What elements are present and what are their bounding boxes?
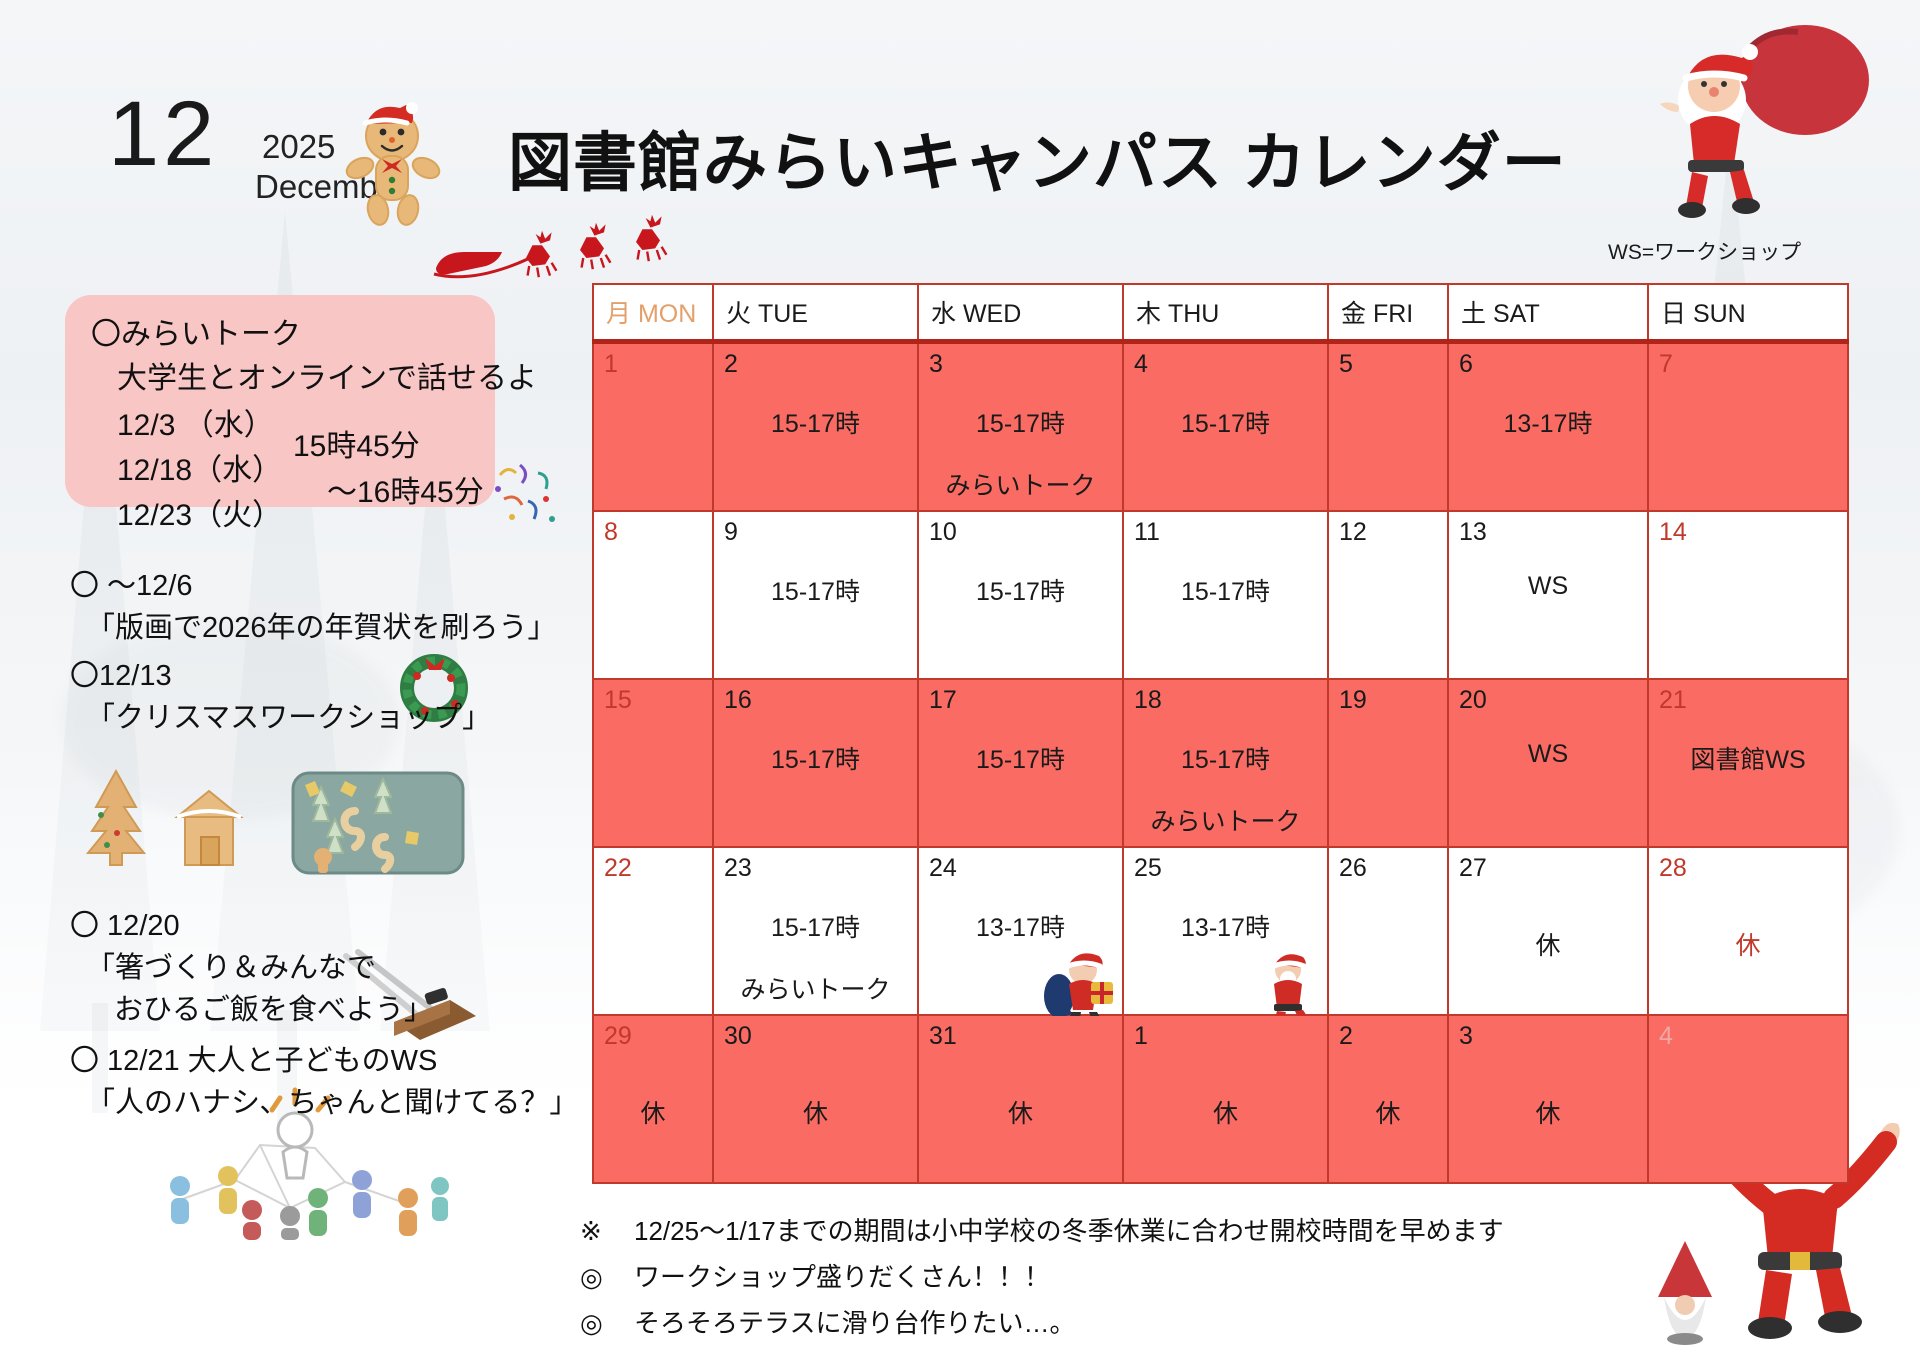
day-number: 9 xyxy=(724,518,738,546)
calendar-day-cell[interactable]: 20WS xyxy=(1448,679,1648,847)
day-number: 25 xyxy=(1134,854,1162,882)
calendar-day-cell[interactable]: 27休 xyxy=(1448,847,1648,1015)
day-event-1: 15-17時 xyxy=(1124,404,1327,440)
calendar-day-cell[interactable]: 26 xyxy=(1328,847,1448,1015)
mirai-talk-title: 〇みらいトーク xyxy=(91,309,301,353)
page-title: 図書館みらいキャンパス カレンダー xyxy=(508,112,1567,204)
calendar-day-cell[interactable]: 415-17時 xyxy=(1123,342,1328,512)
calendar-day-cell[interactable]: 1 xyxy=(593,342,713,512)
page-header: 12 2025 December 図書館みらいキャンパス カレンダー WS=ワー… xyxy=(0,0,1920,230)
calendar-day-cell[interactable]: 13WS xyxy=(1448,511,1648,679)
calendar-week-row: 8 915-17時 1015-17時 1115-17時 12 13WS 14 xyxy=(593,511,1848,679)
santa-with-sack-icon xyxy=(1630,20,1880,220)
column-header-sat: 土 SAT xyxy=(1448,284,1648,342)
year-label: 2025 xyxy=(262,128,335,166)
day-event-1: 15-17時 xyxy=(1124,740,1327,776)
note-sub1: 「クリスマスワークショップ」 xyxy=(70,697,491,739)
day-number: 21 xyxy=(1659,686,1687,714)
note-item-2: 〇 12/20 「箸づくり＆みんなで おひるご飯を食べよう」 xyxy=(70,905,433,1031)
calendar-week-row: 22 2315-17時みらいトーク 2413-17時 xyxy=(593,847,1848,1015)
calendar-day-cell[interactable]: 2休 xyxy=(1328,1015,1448,1183)
calendar-day-cell[interactable]: 1休 xyxy=(1123,1015,1328,1183)
day-event-1: 休 xyxy=(714,1094,917,1130)
day-event-2: みらいトーク xyxy=(919,466,1122,502)
day-number: 8 xyxy=(604,518,618,546)
day-number: 3 xyxy=(929,350,943,378)
footer-note-row: ◎そろそろテラスに滑り台作りたい…。 xyxy=(580,1300,1504,1346)
calendar-day-cell[interactable]: 8 xyxy=(593,511,713,679)
footer-mark: ◎ xyxy=(580,1300,634,1346)
note-item-0: 〇 〜12/6 「版画で2026年の年賀状を刷ろう」 xyxy=(70,565,557,649)
note-sub2: おひるご飯を食べよう」 xyxy=(70,989,433,1031)
day-event-1: WS xyxy=(1449,740,1647,769)
note-sub1: 「人のハナシ、ちゃんと聞けてる？」 xyxy=(70,1082,578,1124)
gingerbread-man-icon xyxy=(338,96,446,228)
calendar-day-cell[interactable]: 1715-17時 xyxy=(918,679,1123,847)
footer-notes: ※12/25〜1/17までの期間は小中学校の冬季休業に合わせ開校時間を早めます … xyxy=(580,1208,1504,1346)
calendar-day-cell[interactable]: 2315-17時みらいトーク xyxy=(713,847,918,1015)
day-event-1: 15-17時 xyxy=(714,740,917,776)
day-number: 19 xyxy=(1339,686,1367,714)
note-head: 〇 〜12/6 xyxy=(70,570,193,602)
footer-note-row: ◎ワークショップ盛りだくさん！！！ xyxy=(580,1254,1504,1300)
calendar-header-row: 月 MON 火 TUE 水 WED 木 THU 金 FRI 土 SAT 日 SU… xyxy=(593,284,1848,342)
calendar-day-cell[interactable]: 31休 xyxy=(918,1015,1123,1183)
day-event-1: 15-17時 xyxy=(714,404,917,440)
christmas-cookies-icon xyxy=(55,745,475,875)
day-event-1: 図書館WS xyxy=(1649,740,1847,776)
day-event-1: 13-17時 xyxy=(1124,908,1327,944)
day-number: 10 xyxy=(929,518,957,546)
day-event-1: 休 xyxy=(594,1094,712,1130)
day-event-1: 15-17時 xyxy=(919,572,1122,608)
day-number: 17 xyxy=(929,686,957,714)
calendar-day-cell[interactable]: 19 xyxy=(1328,679,1448,847)
mirai-talk-time-end: 〜16時45分 xyxy=(327,467,484,511)
calendar-day-cell[interactable]: 1115-17時 xyxy=(1123,511,1328,679)
day-number: 31 xyxy=(929,1022,957,1050)
day-number: 30 xyxy=(724,1022,752,1050)
day-number: 4 xyxy=(1134,350,1148,378)
footer-note-row: ※12/25〜1/17までの期間は小中学校の冬季休業に合わせ開校時間を早めます xyxy=(580,1208,1504,1254)
note-sub1: 「版画で2026年の年賀状を刷ろう」 xyxy=(70,607,557,649)
calendar-day-cell[interactable]: 15 xyxy=(593,679,713,847)
footer-mark: ※ xyxy=(580,1208,634,1254)
day-event-1: 休 xyxy=(1329,1094,1447,1130)
day-event-1: 15-17時 xyxy=(1124,572,1327,608)
calendar-table: 月 MON 火 TUE 水 WED 木 THU 金 FRI 土 SAT 日 SU… xyxy=(592,283,1849,1184)
day-number: 27 xyxy=(1459,854,1487,882)
santa-sleigh-icon xyxy=(430,212,720,284)
calendar-day-cell[interactable]: 22 xyxy=(593,847,713,1015)
calendar-day-cell[interactable]: 315-17時みらいトーク xyxy=(918,342,1123,512)
calendar-day-cell[interactable]: 21図書館WS xyxy=(1648,679,1848,847)
day-event-1: 15-17時 xyxy=(714,572,917,608)
day-number: 11 xyxy=(1134,518,1160,546)
calendar-week-row: 29休 30休 31休 1休 2休 3休 4 xyxy=(593,1015,1848,1183)
day-number: 2 xyxy=(724,350,738,378)
day-number: 28 xyxy=(1659,854,1687,882)
day-event-1: 休 xyxy=(1124,1094,1327,1130)
calendar-day-cell[interactable]: 14 xyxy=(1648,511,1848,679)
santa-gift-icon xyxy=(1043,944,1117,1026)
day-number: 18 xyxy=(1134,686,1162,714)
day-event-1: 15-17時 xyxy=(714,908,917,944)
day-event-2: みらいトーク xyxy=(714,970,917,1006)
calendar-day-cell[interactable]: 28休 xyxy=(1648,847,1848,1015)
mirai-talk-desc: 大学生とオンラインで話せるよ xyxy=(117,353,537,397)
footer-text: ワークショップ盛りだくさん！！！ xyxy=(634,1262,1050,1292)
confetti-icon xyxy=(490,455,570,535)
day-event-1: 13-17時 xyxy=(919,908,1122,944)
footer-text: そろそろテラスに滑り台作りたい…。 xyxy=(634,1308,1075,1338)
footer-mark: ◎ xyxy=(580,1254,634,1300)
mirai-talk-date-1: 12/3 （水） xyxy=(117,400,274,444)
note-sub1: 「箸づくり＆みんなで xyxy=(70,947,433,989)
day-number: 2 xyxy=(1339,1022,1353,1050)
column-header-tue: 火 TUE xyxy=(713,284,918,342)
calendar-day-cell[interactable]: 7 xyxy=(1648,342,1848,512)
calendar-day-cell[interactable]: 1615-17時 xyxy=(713,679,918,847)
note-head: 〇12/13 xyxy=(70,660,172,692)
column-header-wed: 水 WED xyxy=(918,284,1123,342)
mirai-talk-date-2: 12/18（水） xyxy=(117,445,282,489)
day-number: 23 xyxy=(724,854,752,882)
month-number: 12 xyxy=(108,88,218,180)
day-number: 15 xyxy=(604,686,632,714)
day-number: 14 xyxy=(1659,518,1687,546)
calendar-day-cell[interactable]: 915-17時 xyxy=(713,511,918,679)
day-event-1: 休 xyxy=(919,1094,1122,1130)
day-number: 13 xyxy=(1459,518,1487,546)
day-number: 1 xyxy=(1134,1022,1148,1050)
calendar-day-cell[interactable]: 215-17時 xyxy=(713,342,918,512)
note-item-1: 〇12/13 「クリスマスワークショップ」 xyxy=(70,655,491,739)
day-number: 6 xyxy=(1459,350,1473,378)
mirai-talk-note-box: 〇みらいトーク 大学生とオンラインで話せるよ 12/3 （水） 12/18（水）… xyxy=(65,295,495,507)
calendar-day-cell[interactable]: 1815-17時みらいトーク xyxy=(1123,679,1328,847)
day-event-1: 休 xyxy=(1449,1094,1647,1130)
day-event-1: 休 xyxy=(1449,926,1647,962)
column-header-sun: 日 SUN xyxy=(1648,284,1848,342)
day-event-2: みらいトーク xyxy=(1124,802,1327,838)
calendar-week-row: 15 1615-17時 1715-17時 1815-17時みらいトーク 19 2… xyxy=(593,679,1848,847)
column-header-mon: 月 MON xyxy=(593,284,713,342)
note-item-3: 〇 12/21 大人と子どものWS 「人のハナシ、ちゃんと聞けてる？」 xyxy=(70,1040,578,1124)
day-number: 22 xyxy=(604,854,632,882)
calendar-day-cell[interactable]: 2513-17時 xyxy=(1123,847,1328,1015)
day-event-1: 15-17時 xyxy=(919,740,1122,776)
day-number: 20 xyxy=(1459,686,1487,714)
calendar-week-row: 1 215-17時 315-17時みらいトーク 415-17時 5 613-17… xyxy=(593,342,1848,512)
calendar-day-cell[interactable]: 4 xyxy=(1648,1015,1848,1183)
day-number: 12 xyxy=(1339,518,1367,546)
day-event-1: 休 xyxy=(1649,926,1847,962)
mirai-talk-time-start: 15時45分 xyxy=(293,421,420,465)
footer-text: 12/25〜1/17までの期間は小中学校の冬季休業に合わせ開校時間を早めます xyxy=(634,1216,1504,1246)
ws-legend: WS=ワークショップ xyxy=(1608,236,1801,266)
day-number: 26 xyxy=(1339,854,1367,882)
mirai-talk-date-3: 12/23（火） xyxy=(117,490,282,534)
day-event-1: 15-17時 xyxy=(919,404,1122,440)
column-header-thu: 木 THU xyxy=(1123,284,1328,342)
day-number: 3 xyxy=(1459,1022,1473,1050)
day-number: 16 xyxy=(724,686,752,714)
day-number: 24 xyxy=(929,854,957,882)
calendar-day-cell[interactable]: 613-17時 xyxy=(1448,342,1648,512)
note-head: 〇 12/20 xyxy=(70,910,180,942)
day-event-1: 13-17時 xyxy=(1449,404,1647,440)
calendar-day-cell[interactable]: 1015-17時 xyxy=(918,511,1123,679)
santa-running-icon xyxy=(1258,946,1320,1024)
calendar-day-cell[interactable]: 3休 xyxy=(1448,1015,1648,1183)
day-number: 29 xyxy=(604,1022,632,1050)
column-header-fri: 金 FRI xyxy=(1328,284,1448,342)
calendar-day-cell[interactable]: 30休 xyxy=(713,1015,918,1183)
calendar-day-cell[interactable]: 2413-17時 xyxy=(918,847,1123,1015)
day-number: 4 xyxy=(1659,1022,1673,1050)
day-event-1: WS xyxy=(1449,572,1647,601)
calendar-day-cell[interactable]: 5 xyxy=(1328,342,1448,512)
note-head: 〇 12/21 大人と子どものWS xyxy=(70,1045,437,1077)
calendar-day-cell[interactable]: 12 xyxy=(1328,511,1448,679)
day-number: 1 xyxy=(604,350,618,378)
calendar-day-cell[interactable]: 29休 xyxy=(593,1015,713,1183)
day-number: 7 xyxy=(1659,350,1673,378)
day-number: 5 xyxy=(1339,350,1353,378)
